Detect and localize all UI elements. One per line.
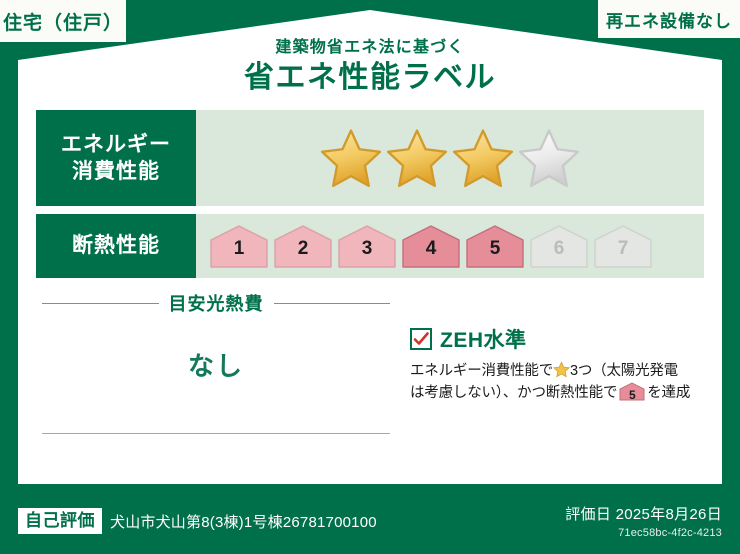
label-footer: 自己評価 犬山市犬山第8(3棟)1号棟26781700100 評価日 2025年…: [0, 488, 740, 554]
energy-consumption-row: エネルギー 消費性能: [36, 110, 704, 206]
title-main: 省エネ性能ラベル: [0, 59, 740, 97]
inline-grade-badge: 5: [619, 382, 645, 401]
energy-consumption-label-line1: エネルギー: [61, 131, 171, 158]
insulation-label: 断熱性能: [36, 214, 196, 278]
insulation-grade-number: 5: [466, 238, 524, 260]
zeh-desc-part3: は考慮しない）、かつ断熱性能で: [410, 385, 617, 401]
insulation-grade-4: 4: [402, 224, 460, 268]
inline-grade-number: 5: [619, 386, 645, 405]
insulation-grade-7: 7: [594, 224, 652, 268]
heading-rule-left: [42, 303, 159, 304]
insulation-grade-number: 3: [338, 238, 396, 260]
bottom-split: なし ZEH水準 エネルギー消費性能で: [36, 320, 704, 434]
heading-rule-right: [274, 303, 391, 304]
insulation-grade-number: 1: [210, 238, 268, 260]
star-rating: [196, 110, 704, 206]
insulation-grade-scale: 1234567: [196, 224, 704, 268]
check-icon: [412, 330, 430, 348]
label-title: 建築物省エネ法に基づく 省エネ性能ラベル: [0, 38, 740, 97]
energy-cost-underline: [42, 433, 390, 434]
energy-performance-label: 住宅（住戸） 再エネ設備なし 建築物省エネ法に基づく 省エネ性能ラベル エネルギ…: [0, 0, 740, 554]
inline-star-icon: [553, 361, 570, 378]
zeh-section: ZEH水準 エネルギー消費性能で 3つ（太陽光発電 は考慮しない）、かつ断熱性能…: [396, 320, 704, 434]
badge-building-type-label: 住宅（住戸）: [3, 8, 123, 35]
badge-building-type: 住宅（住戸）: [0, 0, 126, 42]
badge-renewable-energy-label: 再エネ設備なし: [606, 7, 732, 32]
insulation-grade-number: 2: [274, 238, 332, 260]
insulation-grade-5: 5: [466, 224, 524, 268]
evaluation-date: 評価日 2025年8月26日: [565, 503, 722, 524]
badge-renewable-energy: 再エネ設備なし: [598, 0, 740, 38]
energy-cost-section: なし: [36, 320, 396, 434]
insulation-label-text: 断熱性能: [72, 232, 160, 259]
insulation-grade-6: 6: [530, 224, 588, 268]
zeh-desc-part2: 3つ（太陽光発電: [570, 363, 678, 379]
star-empty-icon: [518, 127, 580, 189]
label-panel: エネルギー 消費性能 断熱性能 1234567 目安光熱費 なし: [18, 98, 722, 484]
zeh-heading: ZEH水準: [410, 324, 704, 354]
property-address: 犬山市犬山第8(3棟)1号棟26781700100: [110, 511, 377, 532]
zeh-desc-part4: を達成: [647, 385, 690, 401]
star-filled-icon: [386, 127, 448, 189]
energy-consumption-label-line2: 消費性能: [72, 158, 160, 185]
zeh-desc-part1: エネルギー消費性能で: [410, 363, 553, 379]
energy-cost-heading: 目安光熱費: [36, 290, 396, 316]
insulation-grade-1: 1: [210, 224, 268, 268]
evaluation-id: 71ec58bc-4f2c-4213: [565, 527, 722, 539]
star-filled-icon: [320, 127, 382, 189]
zeh-checkbox: [410, 328, 432, 350]
insulation-grade-number: 6: [530, 238, 588, 260]
assessment-type-badge: 自己評価: [18, 508, 102, 535]
zeh-description: エネルギー消費性能で 3つ（太陽光発電 は考慮しない）、かつ断熱性能で 5 を達…: [410, 360, 704, 405]
energy-consumption-label: エネルギー 消費性能: [36, 110, 196, 206]
energy-cost-heading-text: 目安光熱費: [169, 290, 264, 316]
insulation-grade-number: 4: [402, 238, 460, 260]
insulation-row: 断熱性能 1234567: [36, 214, 704, 278]
insulation-grade-number: 7: [594, 238, 652, 260]
zeh-title: ZEH水準: [440, 324, 527, 354]
star-filled-icon: [452, 127, 514, 189]
insulation-grade-2: 2: [274, 224, 332, 268]
energy-cost-value: なし: [36, 346, 396, 383]
insulation-grade-3: 3: [338, 224, 396, 268]
